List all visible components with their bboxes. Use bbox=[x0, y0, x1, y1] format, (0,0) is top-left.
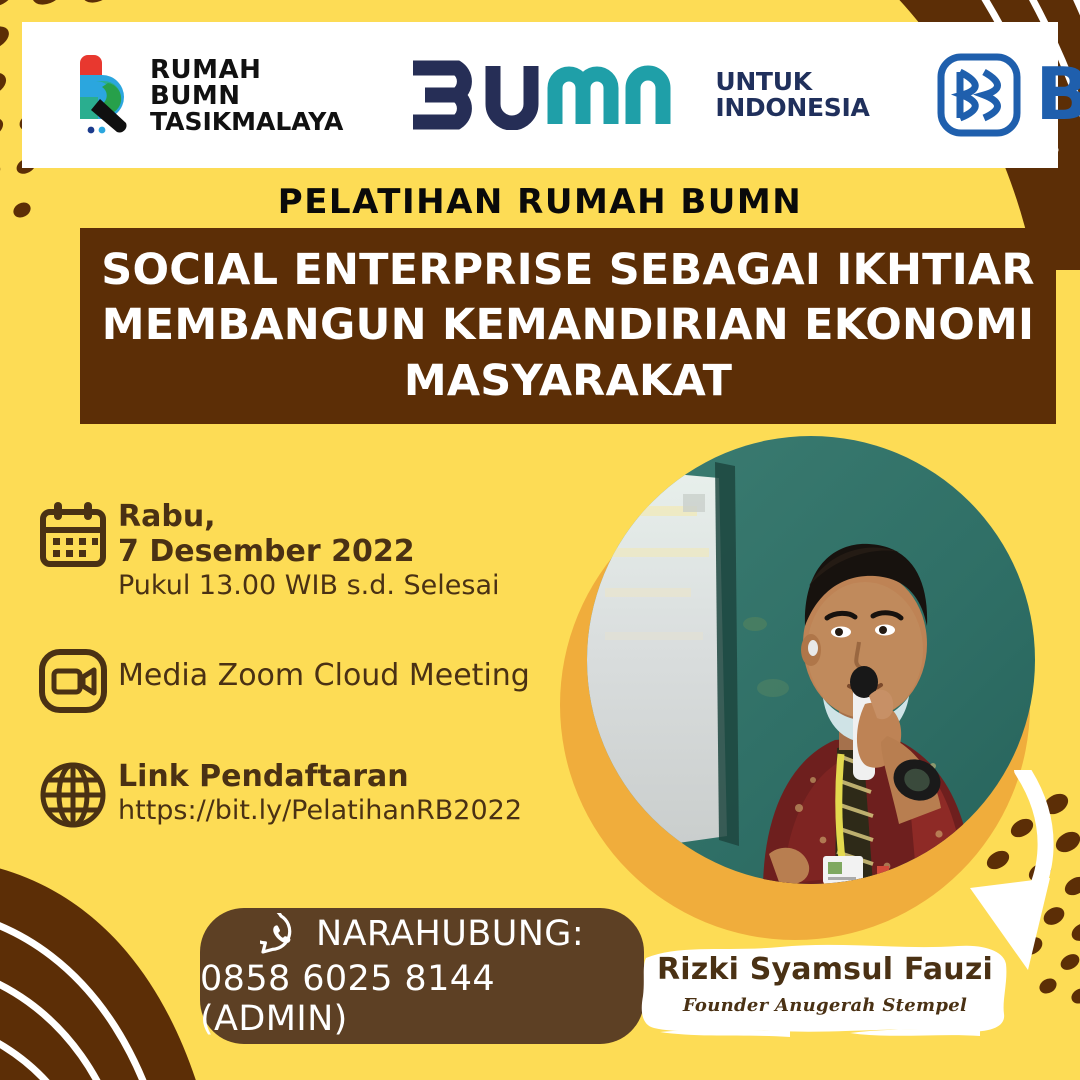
title-line-1: SOCIAL ENTERPRISE SEBAGAI IKHTIAR bbox=[101, 245, 1034, 295]
detail-row-link: Link Pendaftaran https://bit.ly/Pelatiha… bbox=[34, 760, 564, 830]
rumah-bumn-logo: RUMAH BUMN TASIKMALAYA bbox=[64, 53, 343, 137]
speaker-role: Founder Anugerah Stempel bbox=[640, 995, 1010, 1016]
whatsapp-icon bbox=[260, 913, 302, 955]
rumah-bumn-line2: BUMN bbox=[150, 83, 343, 109]
bumn-wordmark-icon bbox=[405, 60, 705, 130]
poster: RUMAH BUMN TASIKMALAYA UNTUK INDONESIA bbox=[0, 0, 1080, 1080]
speaker-photo bbox=[587, 436, 1035, 884]
contact-label: NARAHUBUNG: bbox=[316, 914, 584, 954]
kicker-text: PELATIHAN RUMAH BUMN bbox=[0, 182, 1080, 222]
title-line-3: MASYARAKAT bbox=[404, 356, 732, 406]
globe-icon bbox=[34, 760, 112, 830]
video-camera-icon bbox=[34, 646, 112, 716]
bri-logo: BRI bbox=[936, 52, 1080, 138]
event-day: Rabu, bbox=[118, 500, 500, 535]
calendar-icon bbox=[34, 500, 112, 570]
event-details: Rabu, 7 Desember 2022 Pukul 13.00 WIB s.… bbox=[34, 500, 564, 874]
link-label: Link Pendaftaran bbox=[118, 760, 522, 795]
event-time: Pukul 13.00 WIB s.d. Selesai bbox=[118, 570, 500, 602]
contact-phone[interactable]: 0858 6025 8144 (ADMIN) bbox=[200, 959, 644, 1039]
rumah-bumn-line3: TASIKMALAYA bbox=[150, 109, 343, 134]
page-title: SOCIAL ENTERPRISE SEBAGAI IKHTIAR MEMBAN… bbox=[101, 243, 1034, 408]
bumn-tag-line2: INDONESIA bbox=[715, 95, 869, 121]
rumah-bumn-line1: RUMAH bbox=[150, 57, 343, 83]
registration-link[interactable]: https://bit.ly/PelatihanRB2022 bbox=[118, 795, 522, 827]
rumah-bumn-mark-icon bbox=[64, 53, 138, 137]
media-text: Media Zoom Cloud Meeting bbox=[118, 658, 530, 694]
detail-row-date: Rabu, 7 Desember 2022 Pukul 13.00 WIB s.… bbox=[34, 500, 564, 602]
bumn-tag-line1: UNTUK bbox=[715, 69, 869, 95]
detail-row-media: Media Zoom Cloud Meeting bbox=[34, 646, 564, 716]
title-line-2: MEMBANGUN KEMANDIRIAN EKONOMI bbox=[102, 300, 1034, 350]
event-date: 7 Desember 2022 bbox=[118, 535, 500, 570]
title-band: SOCIAL ENTERPRISE SEBAGAI IKHTIAR MEMBAN… bbox=[80, 228, 1056, 424]
contact-pill[interactable]: NARAHUBUNG: 0858 6025 8144 (ADMIN) bbox=[200, 908, 644, 1044]
logo-bar: RUMAH BUMN TASIKMALAYA UNTUK INDONESIA bbox=[22, 22, 1058, 168]
bri-wordmark: BRI bbox=[1036, 65, 1080, 124]
bumn-untuk-indonesia-logo: UNTUK INDONESIA bbox=[405, 60, 869, 130]
speaker-name-banner: Rizki Syamsul Fauzi Founder Anugerah Ste… bbox=[640, 938, 1010, 1038]
speaker-name: Rizki Syamsul Fauzi bbox=[640, 952, 1010, 987]
bri-mark-icon bbox=[936, 52, 1022, 138]
